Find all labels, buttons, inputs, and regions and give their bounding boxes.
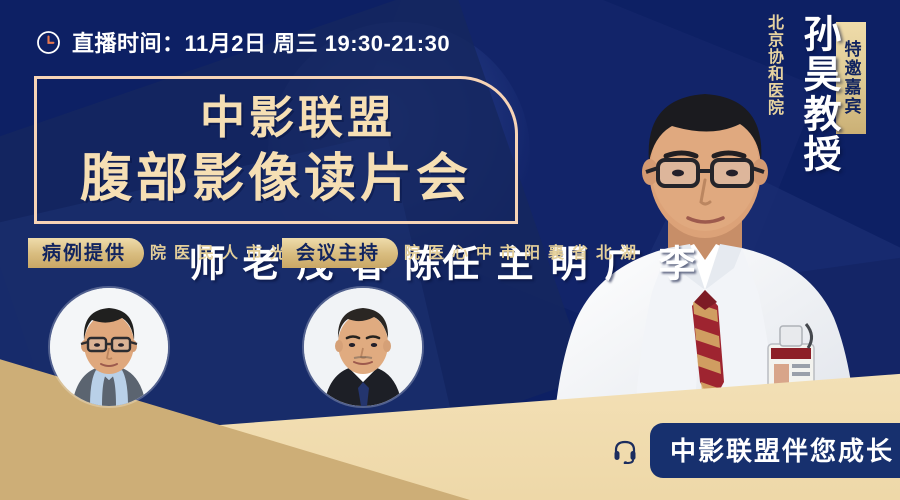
speaker-avatar-chen: [50, 288, 168, 406]
speaker-card-case-provider: 病例提供 陈春茂老师: [28, 238, 144, 268]
live-time-row: 直播时间：11月2日 周三 19:30-21:30: [36, 26, 450, 58]
headset-icon: [612, 438, 638, 464]
live-time-text: 直播时间：11月2日 周三 19:30-21:30: [72, 26, 450, 58]
speaker-avatar-li: [304, 288, 422, 406]
title-box: 中影联盟 腹部影像读片会: [34, 76, 518, 224]
guest-org: 北京协和医院: [762, 14, 786, 116]
footer-slogan-row: 中影联盟伴您成长: [612, 423, 900, 478]
speaker-card-host: 会议主持 李广明主任 湖北省襄阳市中心医院: [282, 238, 398, 268]
title-line-1: 中影联盟: [37, 95, 515, 140]
guest-name: 孙昊教授: [792, 14, 847, 174]
live-event-poster: 直播时间：11月2日 周三 19:30-21:30 中影联盟 腹部影像读片会 病…: [0, 0, 900, 500]
speaker-role-badge: 会议主持: [282, 238, 398, 268]
speaker-role-badge: 病例提供: [28, 238, 144, 268]
title-line-2: 腹部影像读片会: [37, 153, 515, 205]
speaker-org: 湖北省襄阳市中心医院: [398, 244, 638, 268]
clock-icon: [36, 30, 61, 55]
slogan-pill: 中影联盟伴您成长: [650, 423, 900, 478]
